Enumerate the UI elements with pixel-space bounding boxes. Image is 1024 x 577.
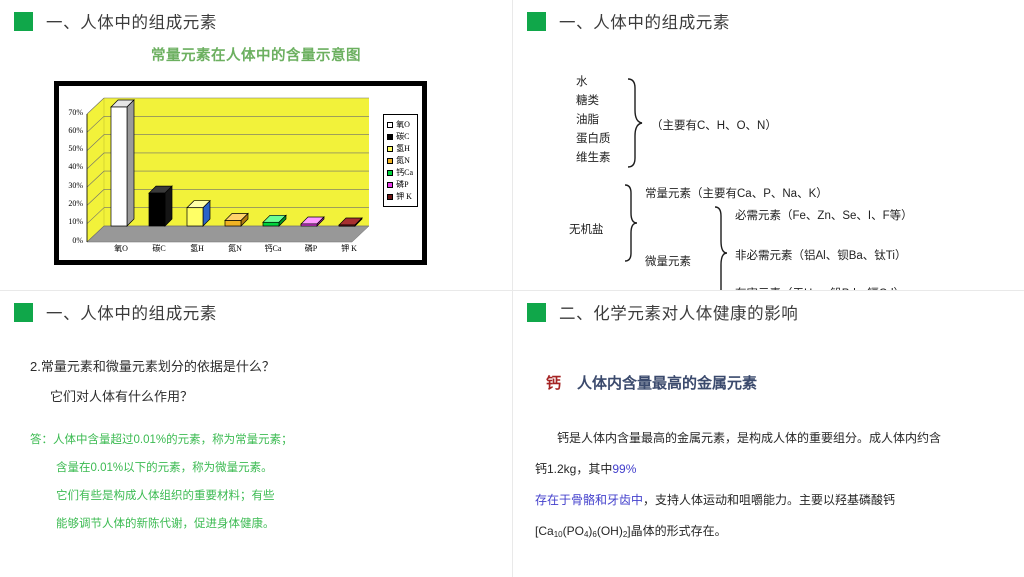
panel-calcium-header: 二、化学元素对人体健康的影响 xyxy=(513,291,1024,324)
ytick-30: 30% xyxy=(57,181,83,190)
legend-swatch-o-icon xyxy=(387,122,393,128)
header-marker-icon xyxy=(527,12,546,31)
brace-diagram-body: 水 糖类 油脂 蛋白质 维生素 （主要有C、H、O、N） 无机盐 常量元素（主要… xyxy=(513,33,1024,43)
legend-label-ca: 钙Ca xyxy=(396,167,413,178)
mineral-brace-icon xyxy=(623,183,641,263)
calcium-highlight-99: 99% xyxy=(612,462,636,476)
ytick-50: 50% xyxy=(57,144,83,153)
xtick-k: 钾 K xyxy=(341,243,357,254)
chart-title: 常量元素在人体中的含量示意图 xyxy=(0,44,512,65)
panel-chart-title: 一、人体中的组成元素 xyxy=(46,9,217,33)
answer-block: 答：人体中含量超过0.01%的元素，称为常量元素； 含量在0.01%以下的元素，… xyxy=(30,426,512,538)
panel-qa: 一、人体中的组成元素 2.常量元素和微量元素划分的依据是什么？ 它们对人体有什么… xyxy=(0,291,512,577)
header-marker-icon xyxy=(527,303,546,322)
chart-legend: 氧O 碳C 氢H 氮N xyxy=(383,114,418,207)
formula-sub-10: 10 xyxy=(554,530,563,539)
calcium-highlight-bones: 存在于骨骼和牙齿中 xyxy=(535,493,643,507)
formula-suffix: ]晶体的形式存在。 xyxy=(627,524,726,538)
formula-sub-4: 4 xyxy=(584,530,588,539)
qa-body: 2.常量元素和微量元素划分的依据是什么？ 它们对人体有什么作用？ 答：人体中含量… xyxy=(0,324,512,538)
legend-item-o: 氧O xyxy=(387,119,413,130)
legend-item-c: 碳C xyxy=(387,131,413,142)
panel-brace-diagram: 一、人体中的组成元素 水 糖类 油脂 蛋白质 维生素 （主要有C、H、O、N） … xyxy=(513,0,1024,290)
micro-item-harmful: 有害元素（汞Hg、铅Pd、镉Cd） xyxy=(735,285,905,290)
calcium-body-line-2: 钙1.2kg，其中99% xyxy=(535,454,1003,485)
answer-line-4: 能够调节人体的新陈代谢，促进身体健康。 xyxy=(30,510,512,538)
calcium-subtitle: 钙人体内含量最高的金属元素 xyxy=(546,372,1024,393)
calcium-body-line-3: 存在于骨骼和牙齿中，支持人体运动和咀嚼能力。主要以羟基磷酸钙 xyxy=(535,485,1003,516)
organic-item: 维生素 xyxy=(576,149,611,168)
legend-label-h: 氢H xyxy=(396,143,410,154)
organic-item-list: 水 糖类 油脂 蛋白质 维生素 xyxy=(576,73,611,168)
formula-mid-1: (PO xyxy=(563,524,584,538)
panel-calcium: 二、化学元素对人体健康的影响 钙人体内含量最高的金属元素 钙是人体内含量最高的金… xyxy=(513,291,1024,577)
ytick-10: 10% xyxy=(57,217,83,226)
ytick-60: 60% xyxy=(57,126,83,135)
legend-item-ca: 钙Ca xyxy=(387,167,413,178)
xtick-ca: 钙Ca xyxy=(265,243,282,254)
panel-chart: 一、人体中的组成元素 常量元素在人体中的含量示意图 xyxy=(0,0,512,290)
panel-chart-header: 一、人体中的组成元素 xyxy=(0,0,512,33)
organic-brace-icon xyxy=(625,77,645,169)
panel-brace-title: 一、人体中的组成元素 xyxy=(559,9,730,33)
ytick-40: 40% xyxy=(57,162,83,171)
chart-frame: 0% 10% 20% 30% 40% 50% 60% 70% 氧O 碳C 氢H … xyxy=(54,81,427,265)
legend-label-o: 氧O xyxy=(396,119,410,130)
legend-swatch-ca-icon xyxy=(387,170,393,176)
answer-line-3: 它们有些是构成人体组织的重要材料；有些 xyxy=(30,482,512,510)
legend-item-p: 磷P xyxy=(387,179,413,190)
organic-item: 油脂 xyxy=(576,111,611,130)
xtick-p: 磷P xyxy=(305,243,317,254)
legend-label-c: 碳C xyxy=(396,131,409,142)
ytick-20: 20% xyxy=(57,199,83,208)
panel-qa-header: 一、人体中的组成元素 xyxy=(0,291,512,324)
ytick-70: 70% xyxy=(57,108,83,117)
micro-element-label: 微量元素 xyxy=(645,253,691,269)
calcium-body-line-1: 钙是人体内含量最高的金属元素，是构成人体的重要组分。成人体内约含 xyxy=(535,423,1003,454)
legend-swatch-p-icon xyxy=(387,182,393,188)
calcium-body: 钙是人体内含量最高的金属元素，是构成人体的重要组分。成人体内约含 钙1.2kg，… xyxy=(535,423,1003,548)
header-marker-icon xyxy=(14,303,33,322)
slide-grid: 一、人体中的组成元素 常量元素在人体中的含量示意图 xyxy=(0,0,1024,577)
macro-element-label: 常量元素（主要有Ca、P、Na、K） xyxy=(645,185,828,201)
bar-chart-svg xyxy=(59,86,422,260)
legend-item-n: 氮N xyxy=(387,155,413,166)
calcium-body-text-2: 钙1.2kg，其中 xyxy=(535,462,612,476)
calcium-symbol: 钙 xyxy=(546,375,561,392)
mineral-label: 无机盐 xyxy=(569,221,604,237)
header-marker-icon xyxy=(14,12,33,31)
organic-item: 糖类 xyxy=(576,92,611,111)
answer-line-2: 含量在0.01%以下的元素，称为微量元素。 xyxy=(30,454,512,482)
micro-brace-icon xyxy=(713,205,731,290)
micro-item-nonessential: 非必需元素（铝Al、钡Ba、钛Ti） xyxy=(735,247,906,263)
panel-brace-header: 一、人体中的组成元素 xyxy=(513,0,1024,33)
organic-item: 水 xyxy=(576,73,611,92)
calcium-body-text-3: ，支持人体运动和咀嚼能力。主要以羟基磷酸钙 xyxy=(643,493,895,507)
organic-note: （主要有C、H、O、N） xyxy=(651,117,777,133)
formula-sub-2: 2 xyxy=(623,530,627,539)
xtick-o: 氧O xyxy=(114,243,128,254)
panel-qa-title: 一、人体中的组成元素 xyxy=(46,300,217,324)
legend-swatch-c-icon xyxy=(387,134,393,140)
calcium-subtitle-text: 人体内含量最高的金属元素 xyxy=(577,375,757,392)
micro-item-essential: 必需元素（Fe、Zn、Se、I、F等） xyxy=(735,207,913,223)
xtick-n: 氮N xyxy=(228,243,242,254)
xtick-h: 氢H xyxy=(190,243,204,254)
formula-sub-6: 6 xyxy=(592,530,596,539)
question-line-1: 2.常量元素和微量元素划分的依据是什么？ xyxy=(30,352,512,382)
formula-prefix: [Ca xyxy=(535,524,554,538)
question-line-2: 它们对人体有什么作用？ xyxy=(30,382,512,412)
formula-mid-3: (OH) xyxy=(597,524,623,538)
answer-line-1: 答：人体中含量超过0.01%的元素，称为常量元素； xyxy=(30,426,512,454)
legend-swatch-h-icon xyxy=(387,146,393,152)
calcium-formula-line: [Ca10(PO4)6(OH)2]晶体的形式存在。 xyxy=(535,516,1003,548)
chart-plot: 0% 10% 20% 30% 40% 50% 60% 70% 氧O 碳C 氢H … xyxy=(59,86,422,260)
legend-label-p: 磷P xyxy=(396,179,408,190)
organic-item: 蛋白质 xyxy=(576,130,611,149)
legend-swatch-n-icon xyxy=(387,158,393,164)
ytick-0: 0% xyxy=(57,236,83,245)
panel-calcium-title: 二、化学元素对人体健康的影响 xyxy=(559,300,798,324)
xtick-c: 碳C xyxy=(152,243,165,254)
legend-item-h: 氢H xyxy=(387,143,413,154)
legend-label-n: 氮N xyxy=(396,155,410,166)
legend-item-k: 钾 K xyxy=(387,191,413,202)
legend-swatch-k-icon xyxy=(387,194,393,200)
legend-label-k: 钾 K xyxy=(396,191,412,202)
